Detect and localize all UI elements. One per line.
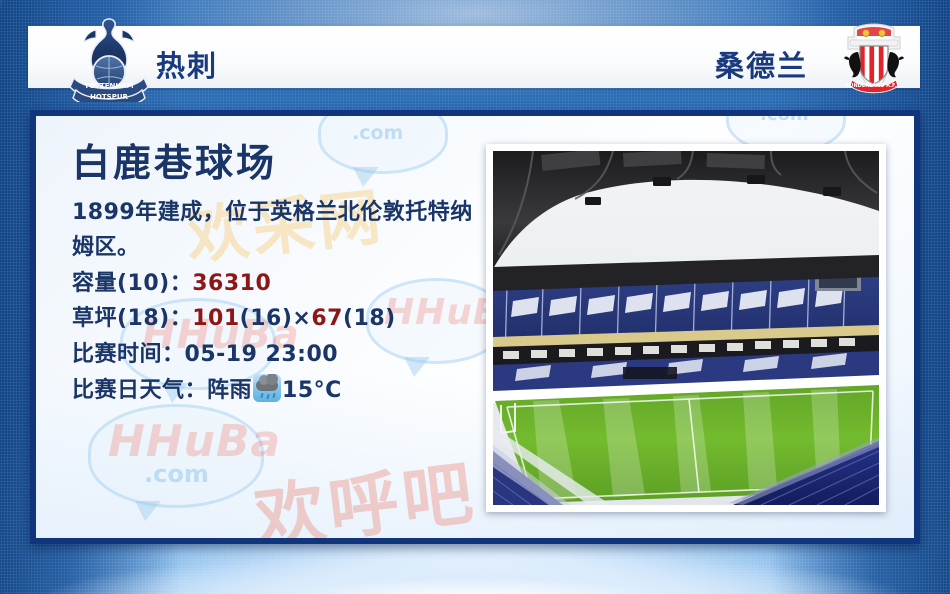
- match-header-bar: TOTTENHAM HOTSPUR 热刺 桑德兰: [28, 26, 920, 88]
- stadium-title: 白鹿巷球场: [72, 142, 492, 185]
- tottenham-crest-icon: TOTTENHAM HOTSPUR: [66, 14, 152, 102]
- kickoff-row-value-0: 05-19 23:00: [185, 342, 339, 367]
- kickoff-row-label: 比赛时间：: [72, 342, 185, 367]
- home-team-name: 热刺: [156, 43, 218, 85]
- pitch-row-value-2: ×: [292, 306, 311, 331]
- pitch-row-label: 草坪(18)：: [72, 306, 192, 331]
- capacity-row: 容量(10)：36310: [72, 266, 492, 302]
- weather-row: 比赛日天气：阵雨 15°C: [72, 373, 492, 409]
- sunderland-afc-crest: SUNDERLAND A.F.C.: [834, 18, 914, 98]
- pitch-row: 草坪(18)：101(16)×67(18): [72, 301, 492, 337]
- away-team-name: 桑德兰: [715, 43, 808, 85]
- stadium-info-panel: .com .com 欢采网 HHuBa HHuBa HHuBa .com 欢呼吧…: [30, 110, 920, 544]
- stadium-description: 1899年建成，位于英格兰北伦敦托特纳姆区。: [72, 195, 482, 266]
- watermark-cn-primary: 欢呼吧: [249, 437, 482, 544]
- watermark-domain-top: .com: [352, 122, 403, 144]
- weather-label: 比赛日天气：: [72, 378, 207, 403]
- svg-text:HOTSPUR: HOTSPUR: [90, 93, 128, 101]
- pitch-row-value-3: 67: [311, 306, 343, 331]
- svg-text:TOTTENHAM: TOTTENHAM: [84, 82, 133, 90]
- pitch-row-value-0: 101: [192, 306, 239, 331]
- tottenham-hotspur-crest: TOTTENHAM HOTSPUR: [66, 14, 152, 102]
- stadium-info-column: 白鹿巷球场 1899年建成，位于英格兰北伦敦托特纳姆区。 容量(10)：3631…: [72, 142, 492, 408]
- pitch-row-value-1: (16): [240, 306, 293, 331]
- stadium-photo-frame: [486, 144, 886, 512]
- capacity-row-value-0: 36310: [192, 271, 271, 296]
- watermark-domain-bottom: .com: [144, 460, 209, 488]
- svg-text:SUNDERLAND A.F.C.: SUNDERLAND A.F.C.: [846, 83, 903, 89]
- sunderland-crest-icon: SUNDERLAND A.F.C.: [834, 18, 914, 98]
- watermark-brand-bottom: HHuBa: [108, 416, 281, 467]
- pitch-row-value-4: (18): [343, 306, 396, 331]
- stadium-photo: [493, 151, 879, 505]
- watermark-domain-top-right: .com: [760, 110, 809, 125]
- stadium-stat-rows: 容量(10)：36310草坪(18)：101(16)×67(18)比赛时间：05…: [72, 266, 492, 373]
- capacity-row-label: 容量(10)：: [72, 271, 192, 296]
- weather-condition: 阵雨: [207, 378, 252, 403]
- kickoff-row: 比赛时间：05-19 23:00: [72, 337, 492, 373]
- watermark-bubble-bottom: [88, 404, 264, 508]
- rain-shower-icon: [253, 374, 281, 402]
- weather-temperature: 15°C: [282, 378, 342, 403]
